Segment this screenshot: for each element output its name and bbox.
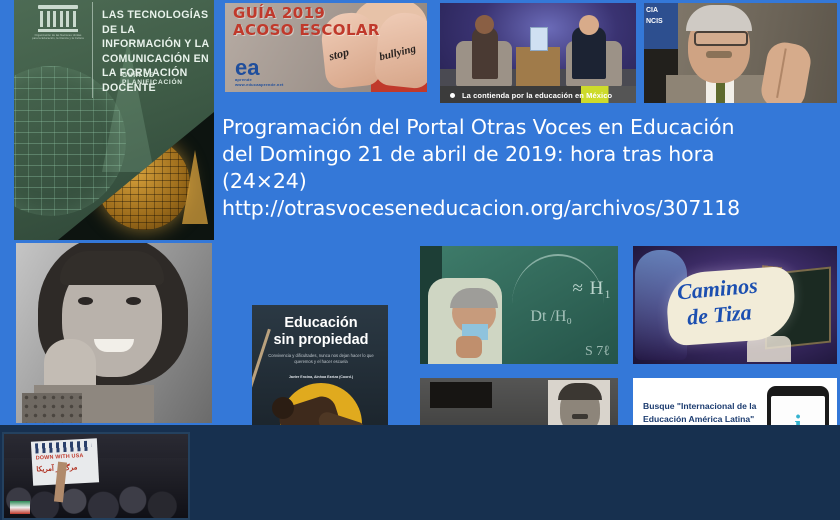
poster-canvas: Organización de las Naciones Unidas para… [0,0,840,520]
moustache [706,51,732,58]
unesco-logo-caption: Organización de las Naciones Unidas para… [32,34,84,41]
glasses-icon [694,31,748,46]
image-caminos-de-tiza: Caminos de Tiza [630,243,840,367]
guest [572,27,606,79]
image-woman-portrait [16,243,212,423]
necklace [22,393,82,423]
unesco-logo-icon: Organización de las Naciones Unidas para… [32,5,84,57]
caption-line-3: (24×24) [222,168,838,195]
book-title-line2: sin propiedad [262,332,380,349]
caption-line-1: Programación del Portal Otras Voces en E… [222,114,838,141]
caption-line-2: del Domingo 21 de abril de 2019: hora tr… [222,141,838,168]
caption-line-4-url[interactable]: http://otrasvoceseneducacion.org/archivo… [222,195,838,222]
educa-aprende-logo: ea aprende www.educaaprende.net [235,59,284,87]
image-protest-crowd: DOWN WITH USA مرگ بر آمریکا [2,432,190,520]
book-subtitle: Convivencia y dificultades, nunca nos de… [264,353,378,365]
backdrop-sign: CIA NCIS [644,3,678,53]
logo-url: www.educaaprende.net [235,82,284,87]
fringe [60,251,164,285]
eye-left [78,297,93,305]
book-on-table [530,27,548,51]
image-acoso-escolar-banner: stop bullying GUÍA 2019 ACOSO ESCOLAR ea… [222,0,430,95]
acoso-title-line2: ACOSO ESCOLAR [233,22,380,39]
acoso-title: GUÍA 2019 ACOSO ESCOLAR [233,5,380,39]
unesco-book-subtitle: GUÍA DE PLANIFICACIÓN [122,72,214,86]
placard-graphic [35,441,91,454]
app-promo-line1: Busque "Internacional de la [643,400,769,413]
interviewer [472,27,498,79]
chalk-equation-3: S 7ℓ [585,344,610,360]
flag [10,501,30,514]
main-caption-text: Programación del Portal Otras Voces en E… [222,114,838,222]
image-tv-interview: La contienda por la educación en México [437,0,639,106]
tv-caption: La contienda por la educación en México [462,91,612,100]
acoso-title-line1: GUÍA 2019 [233,5,380,22]
side-table [516,47,560,87]
eye-right [126,297,141,305]
window [430,382,492,408]
image-chalkboard-teacher: ≈ H₁ Dt /H₀ S 7ℓ [417,243,621,367]
teacher-fist [456,336,482,358]
tie [716,79,725,106]
teacher-body [428,278,502,364]
eiffel-tower-graphic [182,150,208,224]
bullet-icon [450,93,455,98]
teacher-hair [450,288,498,308]
book-authors: Javier Encina, Ainhoa Ezeiza (Coord.) [264,375,378,380]
chalk-equation-2: Dt /H₀ [530,308,572,326]
image-applauding-man: CIA NCIS [641,0,840,106]
poster-moustache [572,414,588,419]
placard-text: DOWN WITH USA [36,453,84,461]
poster-hair [558,383,602,400]
gap-top-1 [214,0,222,114]
book-title: Educación sin propiedad [262,315,380,349]
chalk-equation-1: ≈ H₁ [572,278,612,300]
child-head [272,397,294,419]
book-title-line1: Educación [262,315,380,332]
divider [92,2,93,98]
image-unesco-book-cover: Organización de las Naciones Unidas para… [14,0,214,240]
left-margin [0,0,14,425]
